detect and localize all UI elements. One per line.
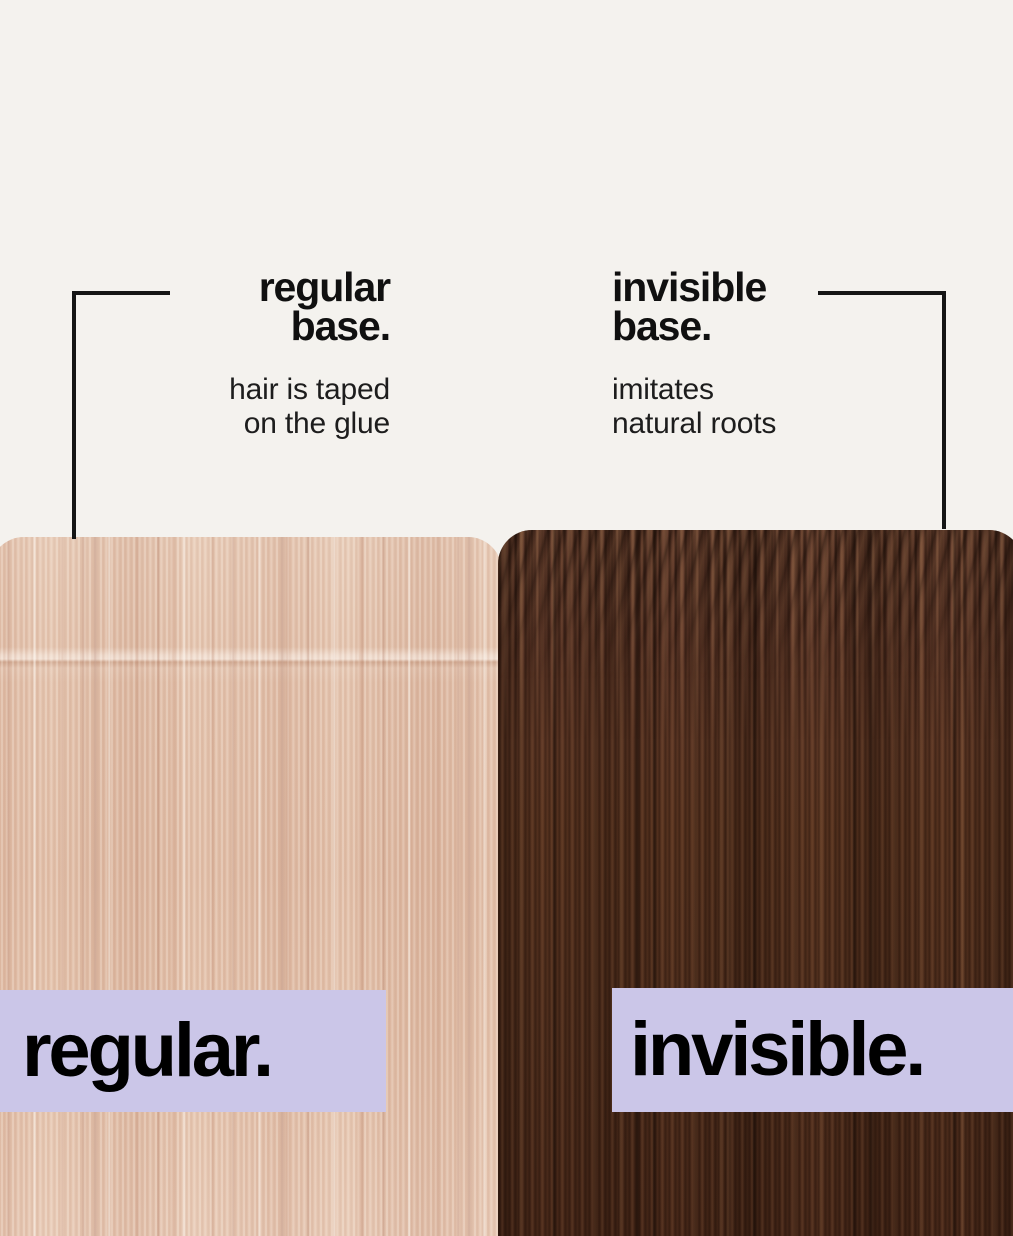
feathered-root-texture-overlay — [498, 530, 1013, 680]
badge-regular: regular. — [0, 990, 386, 1112]
invisible-base-hair-swatch — [498, 530, 1013, 1236]
callout-invisible-base: invisible base. imitates natural roots — [612, 268, 992, 442]
hair-strand-texture-coarse — [0, 537, 502, 1236]
hair-swatch-area — [0, 520, 1013, 1236]
badge-invisible: invisible. — [612, 988, 1013, 1112]
callout-subtitle-invisible: imitates natural roots — [612, 373, 992, 442]
badge-label-invisible: invisible. — [630, 1012, 923, 1088]
callout-title-invisible: invisible base. — [612, 268, 992, 347]
callout-regular-base: regular base. hair is taped on the glue — [10, 268, 390, 442]
regular-base-hair-swatch — [0, 537, 502, 1236]
comparison-graphic: regular base. hair is taped on the glue … — [0, 0, 1013, 1236]
callout-title-regular: regular base. — [10, 268, 390, 347]
callout-subtitle-regular: hair is taped on the glue — [10, 373, 390, 442]
badge-label-regular: regular. — [22, 1013, 271, 1089]
